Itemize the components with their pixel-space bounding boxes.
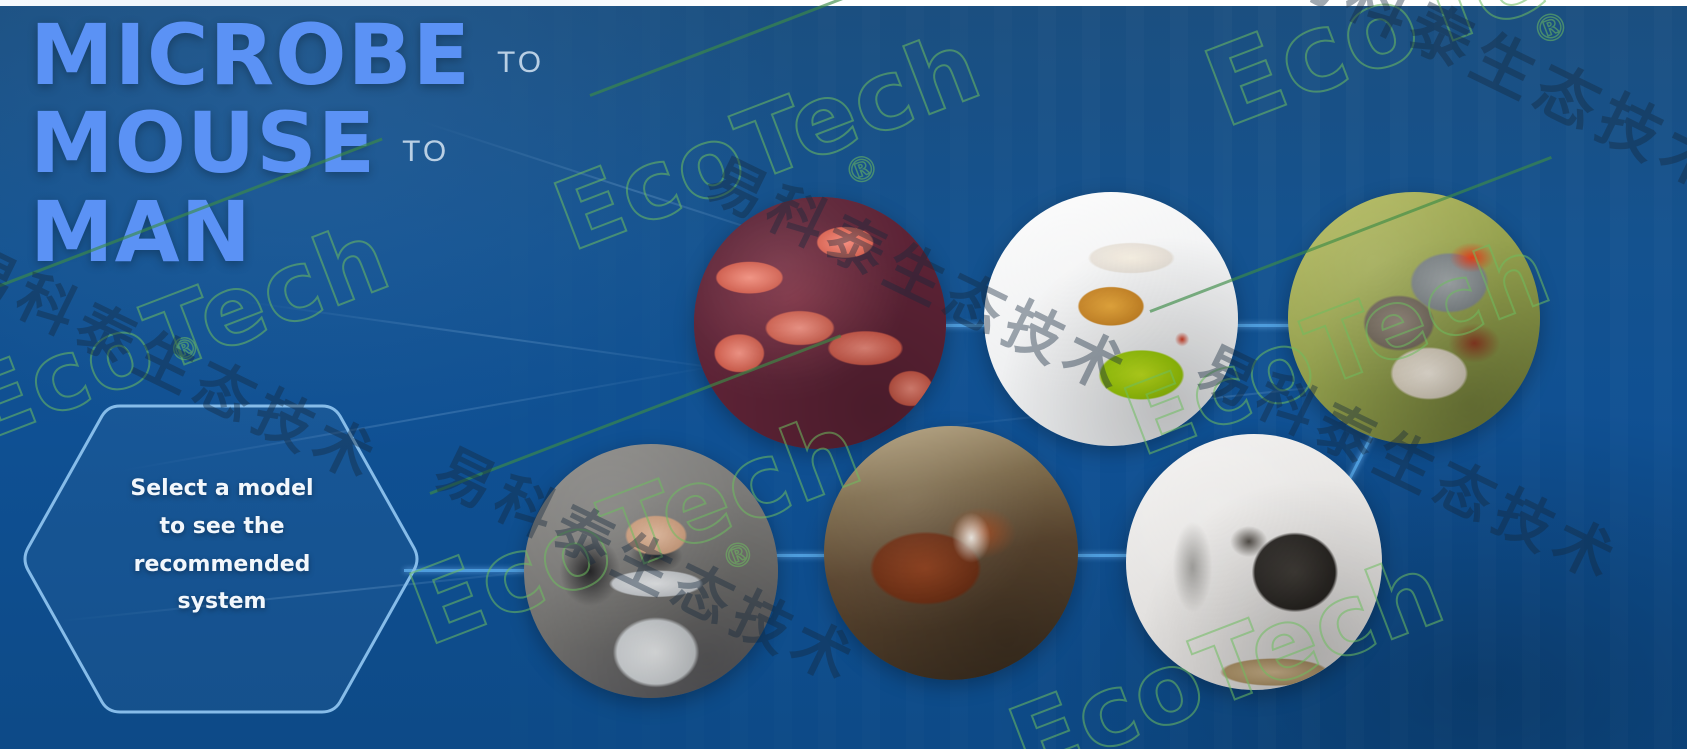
connector-line-bottom-row bbox=[776, 554, 828, 557]
model-callout-hexagon[interactable]: Select a model to see the recommended sy… bbox=[22, 398, 422, 748]
fruit-fly-circle[interactable] bbox=[984, 192, 1238, 446]
callout-line-2: to see the bbox=[92, 508, 352, 546]
cattle-circle[interactable] bbox=[824, 426, 1078, 680]
finch-circle[interactable] bbox=[1288, 192, 1540, 444]
headline-block: MICROBE TO MOUSE TO MAN bbox=[30, 14, 790, 273]
finch-circle-shade bbox=[1288, 192, 1540, 444]
headline-connector-2: TO bbox=[402, 135, 449, 169]
headline-word-microbe: MICROBE bbox=[30, 14, 471, 96]
slide-canvas: MICROBE TO MOUSE TO MAN bbox=[0, 0, 1687, 749]
human-circle-shade bbox=[524, 444, 778, 698]
callout-line-1: Select a model bbox=[92, 470, 352, 508]
mouse-circle-shade bbox=[1126, 434, 1382, 690]
human-circle[interactable] bbox=[524, 444, 778, 698]
headline-row-3: MAN bbox=[30, 191, 790, 273]
cattle-circle-shade bbox=[824, 426, 1078, 680]
headline-row-1: MICROBE TO bbox=[30, 14, 790, 96]
headline-row-2: MOUSE TO bbox=[30, 102, 790, 184]
callout-line-4: system bbox=[92, 583, 352, 621]
bacteria-circle-shade bbox=[694, 197, 946, 449]
headline-word-mouse: MOUSE bbox=[30, 102, 376, 184]
callout-line-3: recommended bbox=[92, 546, 352, 584]
headline-connector-1: TO bbox=[497, 46, 544, 80]
callout-text-block: Select a model to see the recommended sy… bbox=[92, 470, 352, 621]
connector-line-top-row bbox=[1232, 324, 1294, 327]
fruit-fly-circle-shade bbox=[984, 192, 1238, 446]
bacteria-circle[interactable] bbox=[694, 197, 946, 449]
headline-word-man: MAN bbox=[30, 191, 252, 273]
connector-line-hex-to-bottom bbox=[404, 569, 528, 572]
connector-line-bottom-row bbox=[1076, 554, 1130, 557]
mouse-circle[interactable] bbox=[1126, 434, 1382, 690]
